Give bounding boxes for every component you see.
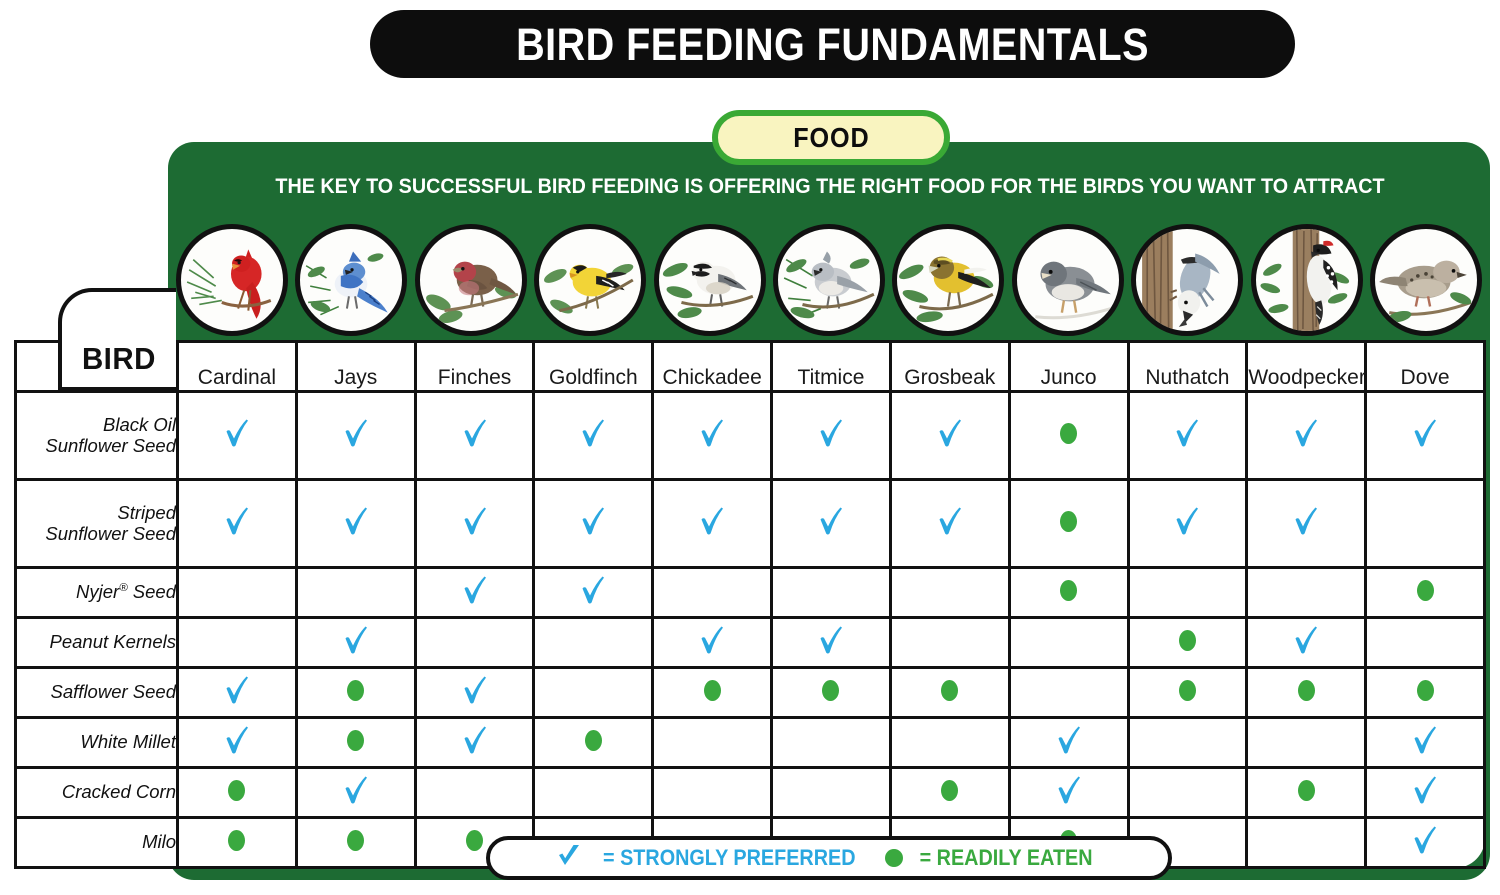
matrix-cell bbox=[772, 618, 891, 668]
matrix-cell bbox=[772, 568, 891, 618]
matrix-cell bbox=[1366, 618, 1485, 668]
filled-circle-icon bbox=[1060, 423, 1077, 444]
row-label-peanutkernels: Peanut Kernels bbox=[16, 618, 178, 668]
evening-grosbeak-bird-photo bbox=[892, 224, 1004, 336]
legend: = STRONGLY PREFERRED = READILY EATEN bbox=[486, 836, 1172, 880]
row-label-milo: Milo bbox=[16, 818, 178, 868]
column-header-label: Woodpecker bbox=[1248, 366, 1366, 389]
downy-woodpecker-bird-photo bbox=[1251, 224, 1363, 336]
matrix-cell bbox=[890, 618, 1009, 668]
dark-eyed-junco-bird-photo bbox=[1012, 224, 1124, 336]
matrix-cell bbox=[890, 718, 1009, 768]
matrix-cell bbox=[1247, 392, 1366, 480]
bird-photo-cell-nuthatch bbox=[1128, 224, 1247, 342]
check-mark-icon bbox=[343, 775, 369, 805]
bird-photo-cell-dove bbox=[1367, 224, 1486, 342]
check-mark-icon bbox=[1412, 418, 1438, 448]
matrix-cell bbox=[890, 480, 1009, 568]
filled-circle-icon bbox=[941, 680, 958, 701]
bird-illustration bbox=[778, 229, 880, 331]
column-header-label: Jays bbox=[334, 366, 377, 389]
matrix-cell bbox=[296, 818, 415, 868]
matrix-cell bbox=[178, 480, 297, 568]
column-header-cardinal: Cardinal bbox=[178, 342, 297, 392]
row-label-line: Sunflower Seed bbox=[17, 436, 176, 457]
bird-illustration bbox=[300, 229, 402, 331]
matrix-cell bbox=[1366, 568, 1485, 618]
row-label-line: White Millet bbox=[17, 732, 176, 753]
filled-circle-icon bbox=[347, 680, 364, 701]
matrix-head: CardinalJaysFinchesGoldfinchChickadeeTit… bbox=[16, 342, 1485, 392]
column-header-label: Nuthatch bbox=[1145, 366, 1229, 389]
check-mark-icon bbox=[818, 625, 844, 655]
cardinal-bird-photo bbox=[176, 224, 288, 336]
filled-circle-icon bbox=[885, 849, 903, 867]
matrix-row: Nyjer® Seed bbox=[16, 568, 1485, 618]
matrix-cell bbox=[653, 392, 772, 480]
matrix-body: Black OilSunflower SeedStripedSunflower … bbox=[16, 392, 1485, 868]
column-header-dove: Dove bbox=[1366, 342, 1485, 392]
bird-photo-cell-finches bbox=[411, 224, 530, 342]
matrix-cell bbox=[1247, 818, 1366, 868]
check-mark-icon bbox=[818, 418, 844, 448]
matrix-cell bbox=[1366, 392, 1485, 480]
check-mark-icon bbox=[462, 506, 488, 536]
matrix-cell bbox=[178, 568, 297, 618]
matrix-cell bbox=[653, 568, 772, 618]
matrix-cell bbox=[653, 480, 772, 568]
bird-photo-cell-titmice bbox=[769, 224, 888, 342]
matrix-cell bbox=[772, 768, 891, 818]
house-finch-bird-photo bbox=[415, 224, 527, 336]
bird-illustration bbox=[1136, 229, 1238, 331]
column-header-chickadee: Chickadee bbox=[653, 342, 772, 392]
filled-circle-icon bbox=[585, 730, 602, 751]
check-mark-icon bbox=[224, 675, 250, 705]
row-label-line: Cracked Corn bbox=[17, 782, 176, 803]
matrix-cell bbox=[415, 718, 534, 768]
matrix-cell bbox=[1247, 768, 1366, 818]
filled-circle-icon bbox=[347, 830, 364, 851]
check-mark-icon bbox=[462, 675, 488, 705]
column-header-woodpecker: Woodpecker bbox=[1247, 342, 1366, 392]
matrix-cell bbox=[1247, 618, 1366, 668]
filled-circle-icon bbox=[228, 830, 245, 851]
matrix-cell bbox=[1366, 768, 1485, 818]
check-mark-icon bbox=[343, 418, 369, 448]
filled-circle-icon bbox=[1179, 630, 1196, 651]
legend-label-readily-eaten: = READILY EATEN bbox=[920, 845, 1093, 871]
section-badge-food: FOOD bbox=[712, 110, 950, 165]
check-mark-icon bbox=[818, 506, 844, 536]
bird-illustration bbox=[181, 229, 283, 331]
matrix-cell bbox=[534, 718, 653, 768]
row-label-line: Safflower Seed bbox=[17, 682, 176, 703]
matrix-cell bbox=[415, 618, 534, 668]
matrix-cell bbox=[296, 392, 415, 480]
check-mark-icon bbox=[580, 575, 606, 605]
matrix-cell bbox=[178, 718, 297, 768]
matrix-cell bbox=[534, 568, 653, 618]
matrix-row: Cracked Corn bbox=[16, 768, 1485, 818]
check-mark-icon bbox=[937, 418, 963, 448]
matrix-cell bbox=[296, 768, 415, 818]
bird-illustration bbox=[1375, 229, 1477, 331]
subtitle-text: THE KEY TO SUCCESSFUL BIRD FEEDING IS OF… bbox=[219, 175, 1441, 199]
matrix-cell bbox=[890, 568, 1009, 618]
column-header-label: Goldfinch bbox=[549, 366, 638, 389]
check-mark-icon bbox=[699, 418, 725, 448]
filled-circle-icon bbox=[228, 780, 245, 801]
check-mark-icon bbox=[1412, 825, 1438, 855]
matrix-cell bbox=[1009, 668, 1128, 718]
bird-illustration bbox=[1256, 229, 1358, 331]
bird-photo-cell-goldfinch bbox=[530, 224, 649, 342]
matrix-cell bbox=[1366, 480, 1485, 568]
row-label-line: Sunflower Seed bbox=[17, 524, 176, 545]
column-header-label: Cardinal bbox=[198, 366, 276, 389]
matrix-cell bbox=[1128, 668, 1247, 718]
chickadee-bird-photo bbox=[654, 224, 766, 336]
check-mark-icon bbox=[1293, 418, 1319, 448]
matrix-cell bbox=[1247, 668, 1366, 718]
matrix-cell bbox=[1128, 768, 1247, 818]
food-preference-matrix: CardinalJaysFinchesGoldfinchChickadeeTit… bbox=[14, 340, 1486, 869]
matrix-cell bbox=[772, 718, 891, 768]
matrix-cell bbox=[1009, 480, 1128, 568]
check-mark-icon bbox=[699, 506, 725, 536]
infographic-root: BIRD FEEDING FUNDAMENTALS FOOD THE KEY T… bbox=[0, 0, 1500, 895]
matrix-cell bbox=[534, 768, 653, 818]
filled-circle-icon bbox=[347, 730, 364, 751]
matrix-cell bbox=[415, 392, 534, 480]
row-axis-label-box: BIRD bbox=[58, 288, 176, 391]
row-label-line: Nyjer® Seed bbox=[17, 582, 176, 603]
matrix-cell bbox=[296, 668, 415, 718]
matrix-cell bbox=[890, 668, 1009, 718]
filled-circle-icon bbox=[1060, 580, 1077, 601]
matrix-cell bbox=[1247, 718, 1366, 768]
matrix-cell bbox=[1128, 718, 1247, 768]
matrix-cell bbox=[1366, 668, 1485, 718]
matrix-row: Black OilSunflower Seed bbox=[16, 392, 1485, 480]
column-header-label: Finches bbox=[438, 366, 512, 389]
matrix-cell bbox=[1366, 818, 1485, 868]
column-header-label: Junco bbox=[1041, 366, 1097, 389]
check-mark-icon bbox=[1293, 506, 1319, 536]
row-label-safflowerseed: Safflower Seed bbox=[16, 668, 178, 718]
matrix-cell bbox=[1009, 768, 1128, 818]
filled-circle-icon bbox=[1179, 680, 1196, 701]
matrix-cell bbox=[1366, 718, 1485, 768]
matrix-cell bbox=[534, 480, 653, 568]
column-header-grosbeak: Grosbeak bbox=[890, 342, 1009, 392]
bird-illustration bbox=[420, 229, 522, 331]
blue-jay-bird-photo bbox=[295, 224, 407, 336]
legend-item-strongly-preferred: = STRONGLY PREFERRED bbox=[556, 843, 870, 874]
bird-photo-cell-grosbeak bbox=[889, 224, 1008, 342]
legend-item-readily-eaten: = READILY EATEN bbox=[885, 845, 1102, 871]
titmouse-bird-photo bbox=[773, 224, 885, 336]
bird-illustration bbox=[897, 229, 999, 331]
matrix-header-row: CardinalJaysFinchesGoldfinchChickadeeTit… bbox=[16, 342, 1485, 392]
matrix-cell bbox=[1247, 480, 1366, 568]
matrix-cell bbox=[1247, 568, 1366, 618]
column-header-label: Titmice bbox=[798, 366, 865, 389]
row-label-crackedcorn: Cracked Corn bbox=[16, 768, 178, 818]
filled-circle-icon bbox=[1298, 780, 1315, 801]
white-breasted-nuthatch-bird-photo bbox=[1131, 224, 1243, 336]
matrix-cell bbox=[415, 568, 534, 618]
check-mark-icon bbox=[224, 418, 250, 448]
row-label-nyjerseed: Nyjer® Seed bbox=[16, 568, 178, 618]
bird-illustration bbox=[1017, 229, 1119, 331]
matrix-cell bbox=[1128, 568, 1247, 618]
matrix-row: White Millet bbox=[16, 718, 1485, 768]
check-mark-icon bbox=[343, 506, 369, 536]
bird-illustration bbox=[539, 229, 641, 331]
bird-photo-cell-chickadee bbox=[650, 224, 769, 342]
column-header-junco: Junco bbox=[1009, 342, 1128, 392]
matrix-cell bbox=[1128, 480, 1247, 568]
matrix-cell bbox=[1128, 392, 1247, 480]
bird-photo-cell-junco bbox=[1008, 224, 1127, 342]
matrix-cell bbox=[178, 618, 297, 668]
matrix-cell bbox=[772, 668, 891, 718]
matrix-cell bbox=[653, 768, 772, 818]
matrix-cell bbox=[653, 668, 772, 718]
filled-circle-icon bbox=[822, 680, 839, 701]
check-mark-icon bbox=[1412, 725, 1438, 755]
matrix-row: Peanut Kernels bbox=[16, 618, 1485, 668]
goldfinch-bird-photo bbox=[534, 224, 646, 336]
bird-photo-cell-jays bbox=[291, 224, 410, 342]
check-mark-icon bbox=[1174, 506, 1200, 536]
row-label-whitemillet: White Millet bbox=[16, 718, 178, 768]
section-badge-label: FOOD bbox=[793, 122, 869, 154]
matrix-row: StripedSunflower Seed bbox=[16, 480, 1485, 568]
page-title: BIRD FEEDING FUNDAMENTALS bbox=[516, 22, 1149, 67]
filled-circle-icon bbox=[1060, 511, 1077, 532]
check-mark-icon bbox=[1056, 725, 1082, 755]
matrix-cell bbox=[534, 668, 653, 718]
check-mark-icon bbox=[224, 506, 250, 536]
matrix-cell bbox=[653, 618, 772, 668]
matrix-cell bbox=[534, 392, 653, 480]
matrix-cell bbox=[178, 668, 297, 718]
matrix-cell bbox=[178, 392, 297, 480]
column-header-goldfinch: Goldfinch bbox=[534, 342, 653, 392]
check-mark-icon bbox=[1293, 625, 1319, 655]
row-label-line: Peanut Kernels bbox=[17, 632, 176, 653]
check-mark-icon bbox=[1412, 775, 1438, 805]
mourning-dove-bird-photo bbox=[1370, 224, 1482, 336]
filled-circle-icon bbox=[1298, 680, 1315, 701]
row-label-line: Milo bbox=[17, 832, 176, 853]
matrix-cell bbox=[772, 392, 891, 480]
filled-circle-icon bbox=[1417, 580, 1434, 601]
column-header-label: Grosbeak bbox=[904, 366, 995, 389]
matrix-cell bbox=[890, 392, 1009, 480]
page-title-banner: BIRD FEEDING FUNDAMENTALS bbox=[370, 10, 1295, 78]
check-mark-icon bbox=[462, 418, 488, 448]
matrix-cell bbox=[415, 480, 534, 568]
check-mark-icon bbox=[937, 506, 963, 536]
row-label-blackoil-sunflowerseed: Black OilSunflower Seed bbox=[16, 392, 178, 480]
legend-label-strongly-preferred: = STRONGLY PREFERRED bbox=[603, 845, 856, 871]
matrix-cell bbox=[296, 568, 415, 618]
row-label-line: Black Oil bbox=[17, 415, 176, 436]
column-header-titmice: Titmice bbox=[772, 342, 891, 392]
matrix-cell bbox=[296, 480, 415, 568]
matrix-cell bbox=[1128, 618, 1247, 668]
filled-circle-icon bbox=[704, 680, 721, 701]
bird-photo-cell-cardinal bbox=[172, 224, 291, 342]
column-header-label: Dove bbox=[1401, 366, 1450, 389]
row-axis-label: BIRD bbox=[82, 341, 156, 387]
row-label-striped-sunflowerseed: StripedSunflower Seed bbox=[16, 480, 178, 568]
check-mark-icon bbox=[462, 575, 488, 605]
matrix-cell bbox=[1009, 392, 1128, 480]
matrix-cell bbox=[296, 718, 415, 768]
bird-photo-row bbox=[172, 224, 1486, 342]
matrix-cell bbox=[890, 768, 1009, 818]
column-header-jays: Jays bbox=[296, 342, 415, 392]
bird-photo-cell-woodpecker bbox=[1247, 224, 1366, 342]
check-mark-icon bbox=[462, 725, 488, 755]
column-header-label: Chickadee bbox=[663, 366, 762, 389]
matrix-cell bbox=[1009, 618, 1128, 668]
matrix-cell bbox=[178, 768, 297, 818]
check-mark-icon bbox=[343, 625, 369, 655]
matrix-cell bbox=[1009, 568, 1128, 618]
matrix-cell bbox=[534, 618, 653, 668]
check-mark-icon bbox=[224, 725, 250, 755]
check-mark-icon bbox=[580, 418, 606, 448]
food-preference-matrix-wrap: CardinalJaysFinchesGoldfinchChickadeeTit… bbox=[14, 340, 1486, 845]
matrix-cell bbox=[296, 618, 415, 668]
matrix-cell bbox=[415, 668, 534, 718]
check-mark-icon bbox=[699, 625, 725, 655]
matrix-cell bbox=[415, 768, 534, 818]
bird-illustration bbox=[659, 229, 761, 331]
filled-circle-icon bbox=[941, 780, 958, 801]
row-label-line: Striped bbox=[17, 503, 176, 524]
matrix-cell bbox=[178, 818, 297, 868]
filled-circle-icon bbox=[1417, 680, 1434, 701]
check-mark-icon bbox=[1056, 775, 1082, 805]
matrix-cell bbox=[1009, 718, 1128, 768]
matrix-cell bbox=[772, 480, 891, 568]
filled-circle-icon bbox=[466, 830, 483, 851]
column-header-finches: Finches bbox=[415, 342, 534, 392]
column-header-nuthatch: Nuthatch bbox=[1128, 342, 1247, 392]
check-mark-icon bbox=[1174, 418, 1200, 448]
check-mark-icon bbox=[556, 843, 582, 874]
matrix-cell bbox=[653, 718, 772, 768]
check-mark-icon bbox=[580, 506, 606, 536]
matrix-row: Safflower Seed bbox=[16, 668, 1485, 718]
